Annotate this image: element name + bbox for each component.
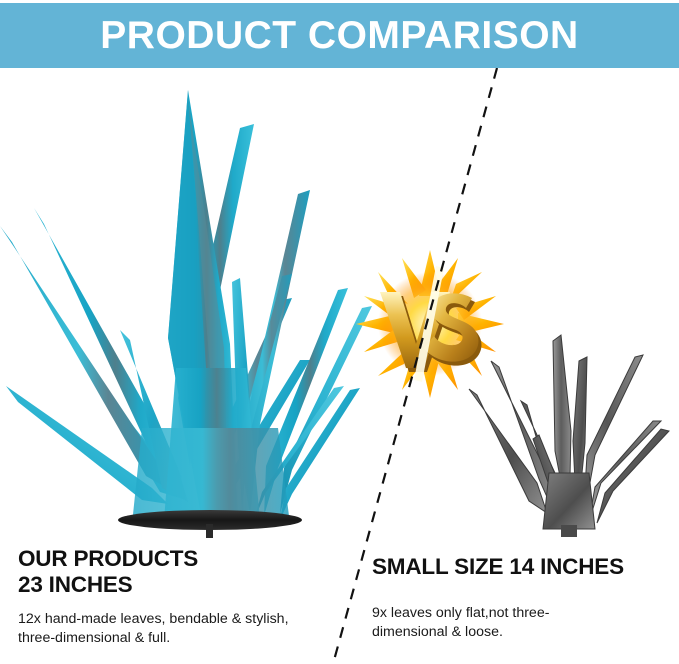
right-description: 9x leaves only flat,not three- dimension…: [372, 604, 672, 641]
left-description: 12x hand-made leaves, bendable & stylish…: [18, 610, 348, 647]
header-banner: PRODUCT COMPARISON: [0, 3, 679, 68]
comparison-stage: OUR PRODUCTS 23 INCHES 12x hand-made lea…: [0, 68, 679, 664]
vs-badge: [352, 248, 508, 398]
product-comparison-image: PRODUCT COMPARISON: [0, 0, 679, 664]
banner-title: PRODUCT COMPARISON: [100, 16, 578, 55]
left-heading: OUR PRODUCTS 23 INCHES: [18, 546, 348, 598]
left-leaf-group: [0, 90, 372, 524]
left-product-image: [0, 68, 382, 538]
right-caption: SMALL SIZE 14 INCHES 9x leaves only flat…: [372, 554, 672, 642]
right-heading: SMALL SIZE 14 INCHES: [372, 554, 672, 580]
left-caption: OUR PRODUCTS 23 INCHES 12x hand-made lea…: [18, 546, 348, 648]
